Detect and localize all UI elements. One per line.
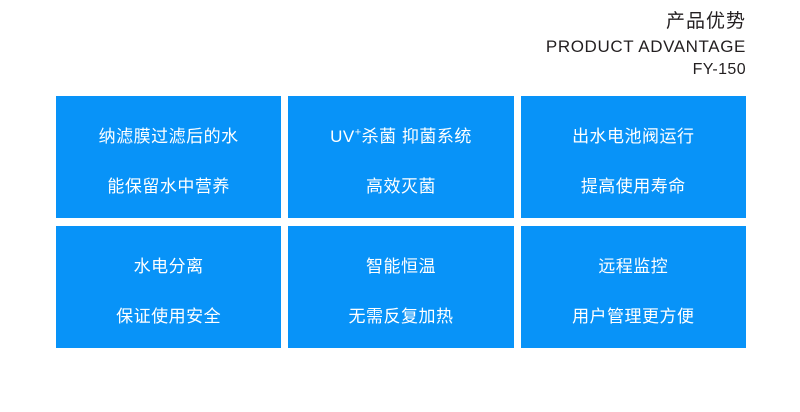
advantage-line-1: 智能恒温 [366, 257, 436, 276]
advantage-line-2: 保证使用安全 [116, 307, 221, 326]
advantage-card: 水电分离 保证使用安全 [56, 226, 281, 348]
advantage-line-1: 出水电池阀运行 [572, 127, 695, 146]
page-title-cn: 产品优势 [546, 12, 746, 31]
uv-plus-superscript: + [355, 127, 362, 139]
advantage-card-text: UV+杀菌 抑菌系统 高效灭菌 [330, 101, 472, 200]
page-header: 产品优势 PRODUCT ADVANTAGE FY-150 [546, 12, 746, 78]
advantage-card-text: 出水电池阀运行 提高使用寿命 [572, 101, 695, 200]
advantage-card-text: 水电分离 保证使用安全 [116, 231, 221, 330]
advantage-line-2: 用户管理更方便 [572, 307, 695, 326]
advantage-card-text: 远程监控 用户管理更方便 [572, 231, 695, 330]
product-advantage-page: 产品优势 PRODUCT ADVANTAGE FY-150 纳滤膜过滤后的水 能… [0, 0, 800, 412]
advantage-line-2: 高效灭菌 [366, 177, 436, 196]
advantage-line-1: 杀菌 抑菌系统 [362, 127, 472, 146]
advantage-card-text: 智能恒温 无需反复加热 [348, 231, 453, 330]
advantage-line-1: 远程监控 [598, 257, 668, 276]
advantage-line-1: 纳滤膜过滤后的水 [99, 127, 239, 146]
advantage-line-2: 能保留水中营养 [107, 177, 230, 196]
advantage-card: UV+杀菌 抑菌系统 高效灭菌 [288, 96, 513, 218]
advantage-line-2: 无需反复加热 [348, 307, 453, 326]
advantage-card: 智能恒温 无需反复加热 [288, 226, 513, 348]
advantage-line-2: 提高使用寿命 [581, 177, 686, 196]
uv-prefix-label: UV [330, 127, 355, 146]
advantage-card-grid: 纳滤膜过滤后的水 能保留水中营养 UV+杀菌 抑菌系统 高效灭菌 出水电池阀运行… [56, 96, 746, 348]
product-model-label: FY-150 [546, 62, 746, 78]
advantage-card: 出水电池阀运行 提高使用寿命 [521, 96, 746, 218]
advantage-card: 远程监控 用户管理更方便 [521, 226, 746, 348]
page-title-en: PRODUCT ADVANTAGE [546, 38, 746, 55]
advantage-card: 纳滤膜过滤后的水 能保留水中营养 [56, 96, 281, 218]
advantage-card-text: 纳滤膜过滤后的水 能保留水中营养 [99, 101, 239, 200]
advantage-line-1: 水电分离 [134, 257, 204, 276]
